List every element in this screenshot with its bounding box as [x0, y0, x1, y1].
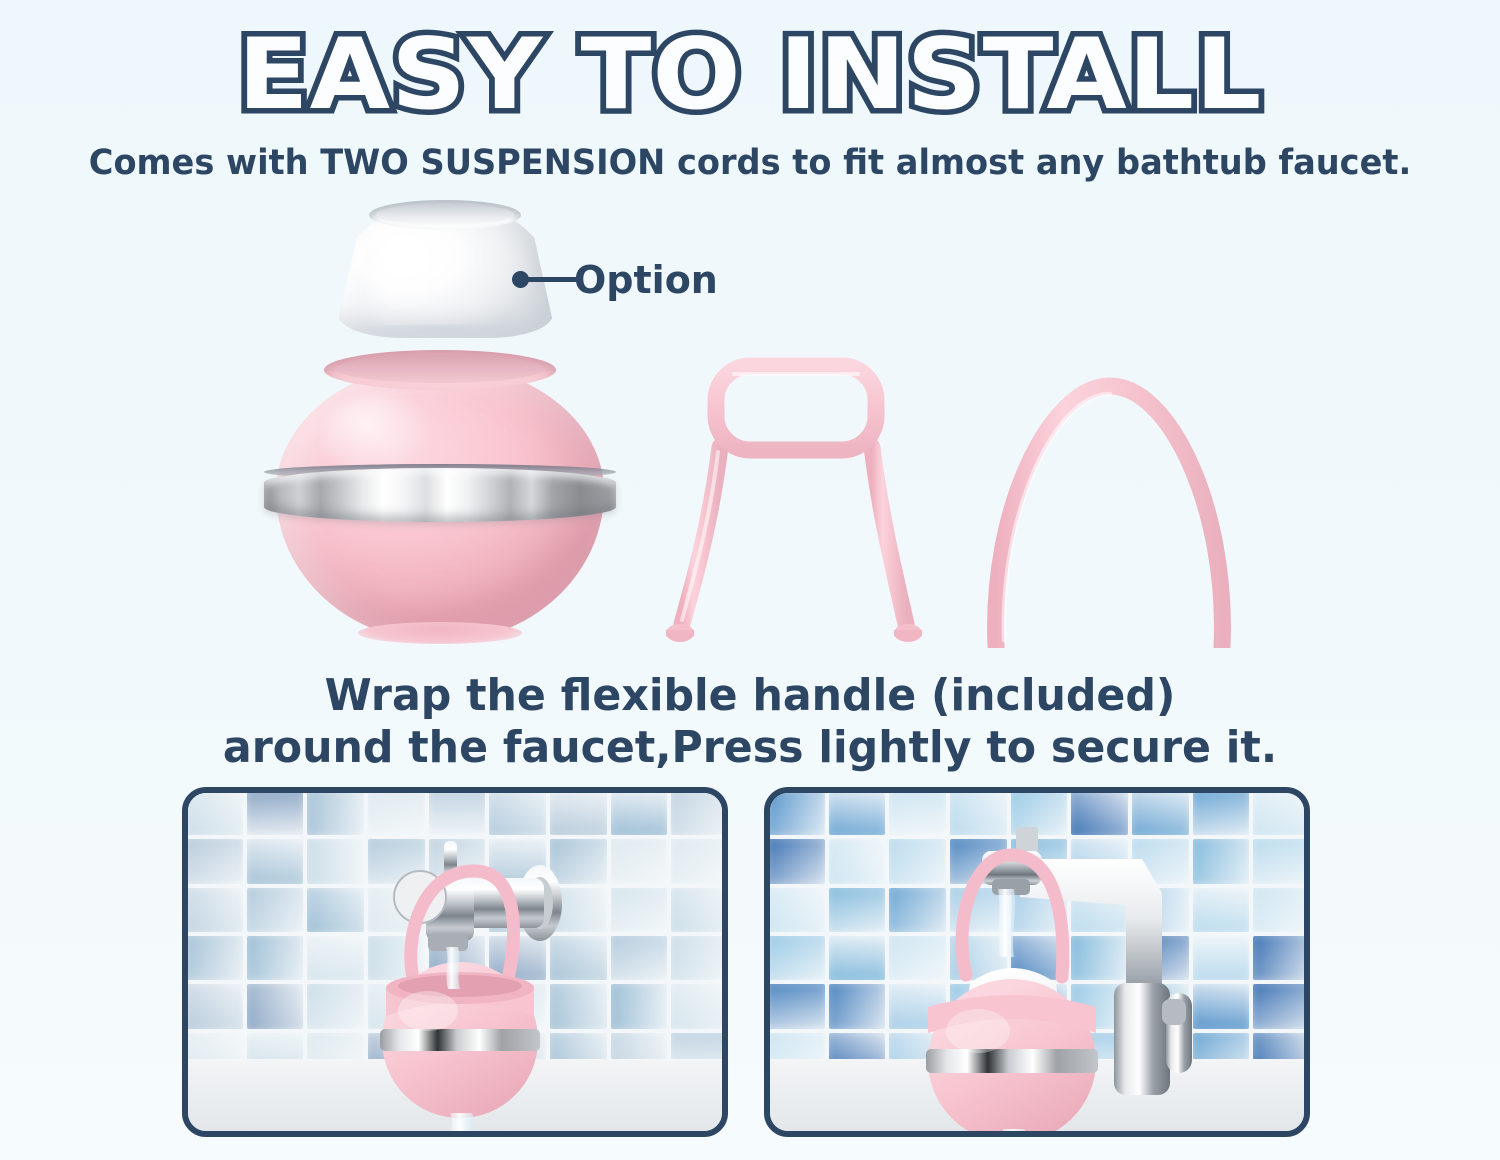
white-dome-cap — [338, 198, 553, 338]
suspension-cord-arch — [960, 360, 1260, 648]
callout-leader-line — [526, 277, 578, 282]
callout-label: Option — [574, 258, 718, 302]
pink-ball-filter — [258, 350, 622, 650]
deck-faucet-scene — [770, 793, 1310, 1137]
deck-mount-faucet-photo — [764, 787, 1310, 1137]
ball-top-opening — [336, 355, 544, 383]
wall-mount-faucet-photo — [182, 787, 728, 1137]
page-subtitle: Comes with TWO SUSPENSION cords to fit a… — [30, 142, 1470, 184]
suspension-cord-loop-handle — [650, 352, 940, 650]
page-title: EASY TO INSTALL — [0, 24, 1500, 126]
wall-faucet-scene — [188, 793, 728, 1137]
instruction-line-1: Wrap the flexible handle (included) — [23, 670, 1478, 722]
instruction-line-2: around the faucet,Press lightly to secur… — [23, 722, 1478, 774]
cap-rim-inner — [376, 204, 514, 225]
chrome-ring-band — [264, 468, 616, 522]
infographic-page: EASY TO INSTALL Comes with TWO SUSPENSIO… — [0, 0, 1500, 1160]
cap-highlight — [374, 234, 434, 308]
cap-base-shadow — [346, 324, 544, 338]
ball-base — [358, 622, 522, 644]
instruction-text: Wrap the flexible handle (included) arou… — [23, 670, 1478, 774]
